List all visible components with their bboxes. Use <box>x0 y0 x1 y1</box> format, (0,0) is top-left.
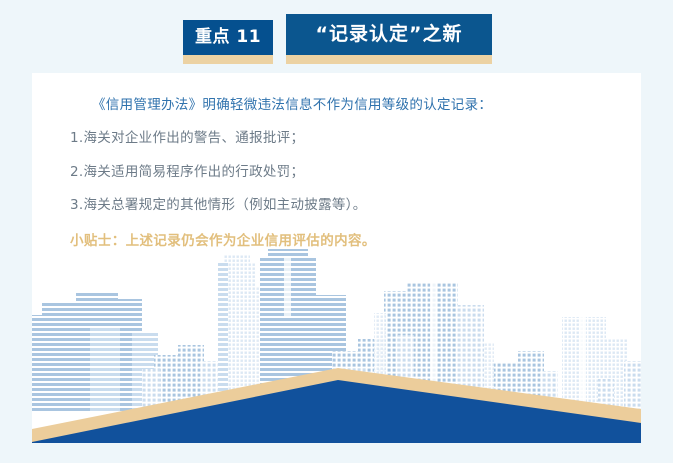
page-title-bar: “记录认定”之新 <box>286 14 492 55</box>
focus-number-badge-bar: 重点 11 <box>183 20 273 55</box>
list-item: 3.海关总署规定的其他情形（例如主动披露等）。 <box>32 182 641 215</box>
header-spacer <box>273 14 286 15</box>
content-card: 《信用管理办法》明确轻微违法信息不作为信用等级的认定记录： 1.海关对企业作出的… <box>32 73 641 443</box>
list-item: 1.海关对企业作出的警告、通报批评； <box>32 115 641 148</box>
page-title: “记录认定”之新 <box>316 25 463 44</box>
cityscape-illustration <box>32 243 641 443</box>
focus-number-badge-underline <box>183 55 273 64</box>
content-body: 《信用管理办法》明确轻微违法信息不作为信用等级的认定记录： 1.海关对企业作出的… <box>32 73 641 251</box>
list-item: 2.海关适用简易程序作出的行政处罚； <box>32 149 641 182</box>
page-title-block: “记录认定”之新 <box>286 14 492 62</box>
header-inner: 重点 11 “记录认定”之新 <box>183 14 492 62</box>
page-header: 重点 11 “记录认定”之新 <box>0 14 673 64</box>
focus-number-badge: 重点 11 <box>183 14 273 62</box>
page-title-underline <box>286 55 492 64</box>
lead-paragraph: 《信用管理办法》明确轻微违法信息不作为信用等级的认定记录： <box>32 73 641 115</box>
building-group-left <box>32 291 158 413</box>
focus-number-badge-label: 重点 11 <box>195 29 261 46</box>
